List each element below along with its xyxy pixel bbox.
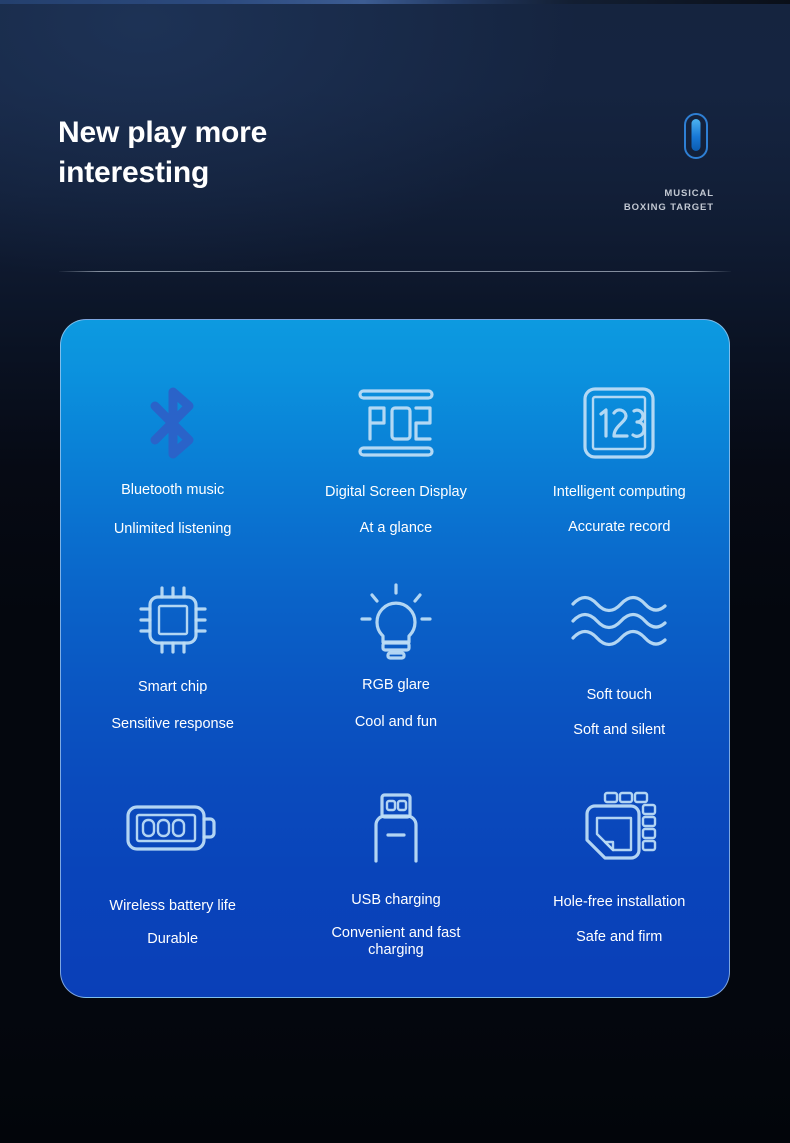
battery-icon <box>123 782 223 872</box>
pill-logo-icon <box>684 113 708 159</box>
adhesive-pad-icon <box>577 782 661 872</box>
feature-title: Digital Screen Display <box>325 484 467 501</box>
bluetooth-icon <box>142 378 204 468</box>
feature-subtitle: At a glance <box>360 520 433 537</box>
feature-title: Wireless battery life <box>109 898 236 915</box>
features-panel: Bluetooth music Unlimited listening Digi… <box>60 319 730 998</box>
light-bulb-icon <box>358 575 434 665</box>
numbers-123-icon <box>580 378 658 468</box>
feature-card-smart-chip: Smart chip Sensitive response <box>61 575 284 739</box>
page-header: New play more interesting MUSICAL BOXING… <box>0 0 790 300</box>
feature-card-digital-screen: Digital Screen Display At a glance <box>284 378 507 538</box>
feature-card-hole-free: Hole-free installation Safe and firm <box>508 782 730 959</box>
digital-display-icon <box>348 378 444 468</box>
feature-title: USB charging <box>351 892 440 909</box>
feature-card-battery: Wireless battery life Durable <box>61 782 284 959</box>
feature-subtitle: Safe and firm <box>576 929 662 946</box>
feature-row-2: Smart chip Sensitive response <box>61 575 730 739</box>
brand-name: MUSICAL BOXING TARGET <box>532 187 732 215</box>
feature-subtitle: Sensitive response <box>111 716 234 733</box>
header-divider <box>59 271 731 272</box>
feature-subtitle: Convenient and fast charging <box>316 925 476 959</box>
feature-title: RGB glare <box>362 677 430 694</box>
feature-title: Soft touch <box>587 687 652 704</box>
brand-block: MUSICAL BOXING TARGET <box>532 113 732 215</box>
feature-subtitle: Unlimited listening <box>114 521 232 538</box>
feature-title: Bluetooth music <box>121 482 224 499</box>
page-title: New play more interesting <box>58 113 418 193</box>
feature-card-usb-charging: USB charging Convenient and fast chargin… <box>284 782 507 959</box>
feature-title: Hole-free installation <box>553 894 685 911</box>
feature-card-rgb-glare: RGB glare Cool and fun <box>284 575 507 739</box>
feature-subtitle: Cool and fun <box>355 714 437 731</box>
usb-plug-icon <box>358 782 434 872</box>
waves-icon <box>567 575 671 665</box>
feature-subtitle: Accurate record <box>568 519 670 536</box>
product-feature-page: New play more interesting MUSICAL BOXING… <box>0 0 790 1143</box>
feature-subtitle: Soft and silent <box>573 722 665 739</box>
feature-subtitle: Durable <box>147 931 198 948</box>
cpu-chip-icon <box>133 575 213 665</box>
feature-card-bluetooth: Bluetooth music Unlimited listening <box>61 378 284 538</box>
feature-title: Intelligent computing <box>553 484 686 501</box>
feature-row-3: Wireless battery life Durable USB chargi… <box>61 782 730 959</box>
feature-row-1: Bluetooth music Unlimited listening Digi… <box>61 378 730 538</box>
feature-card-soft-touch: Soft touch Soft and silent <box>508 575 730 739</box>
feature-title: Smart chip <box>138 679 207 696</box>
feature-card-intelligent-computing: Intelligent computing Accurate record <box>508 378 730 538</box>
